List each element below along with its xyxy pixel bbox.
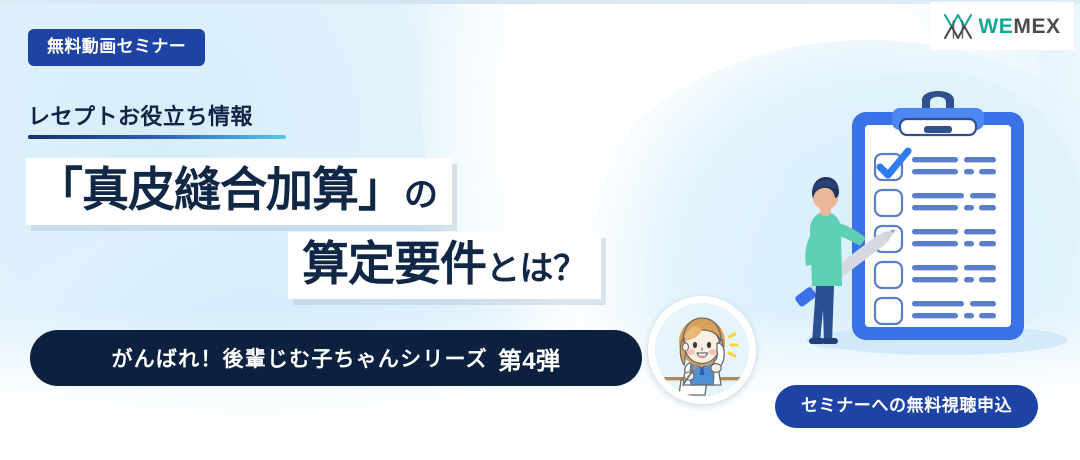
free-video-seminar-badge: 無料動画セミナー [28,29,205,66]
title-line-2-suffix: とは？ [486,252,587,288]
title-line-1-main: 「真皮縫合加算」 [36,165,404,214]
page-title-line-2: 算定要件 とは？ [288,232,601,299]
wemex-crossed-w-mark-icon [943,13,973,40]
page-title-line-1: 「真皮縫合加算」 の [26,158,452,225]
subtitle-underline [28,135,286,139]
series-strip-text: がんばれ！後輩じむ子ちゃんシリーズ [112,343,488,373]
logo-word-mex: MEX [1013,15,1060,38]
series-strip-volume: 第4弾 [490,341,561,376]
title-line-2-main: 算定要件 [302,239,486,288]
subtitle-text: レセプトお役立ち情報 [28,104,286,135]
background-top-stripe [0,0,1080,4]
seminar-banner: WEMEX 無料動画セミナー レセプトお役立ち情報 「真皮縫合加算」 の 算定要… [0,0,1080,460]
avatar [648,296,756,404]
checkbox-5 [875,298,902,324]
jimuko-character-icon [655,303,749,397]
subtitle-block: レセプトお役立ち情報 [28,104,286,139]
avatar-inner-circle [655,303,749,397]
series-strip: がんばれ！後輩じむ子ちゃんシリーズ 第4弾 [30,330,642,386]
title-line-1-suffix: の [404,178,438,214]
checkbox-2 [875,190,902,216]
seminar-signup-button[interactable]: セミナーへの無料視聴申込 [775,385,1038,428]
logo-word-we: WE [978,15,1013,38]
wemex-logo[interactable]: WEMEX [930,2,1074,50]
clipboard-illustration [782,72,1080,357]
checkbox-4 [875,262,902,288]
